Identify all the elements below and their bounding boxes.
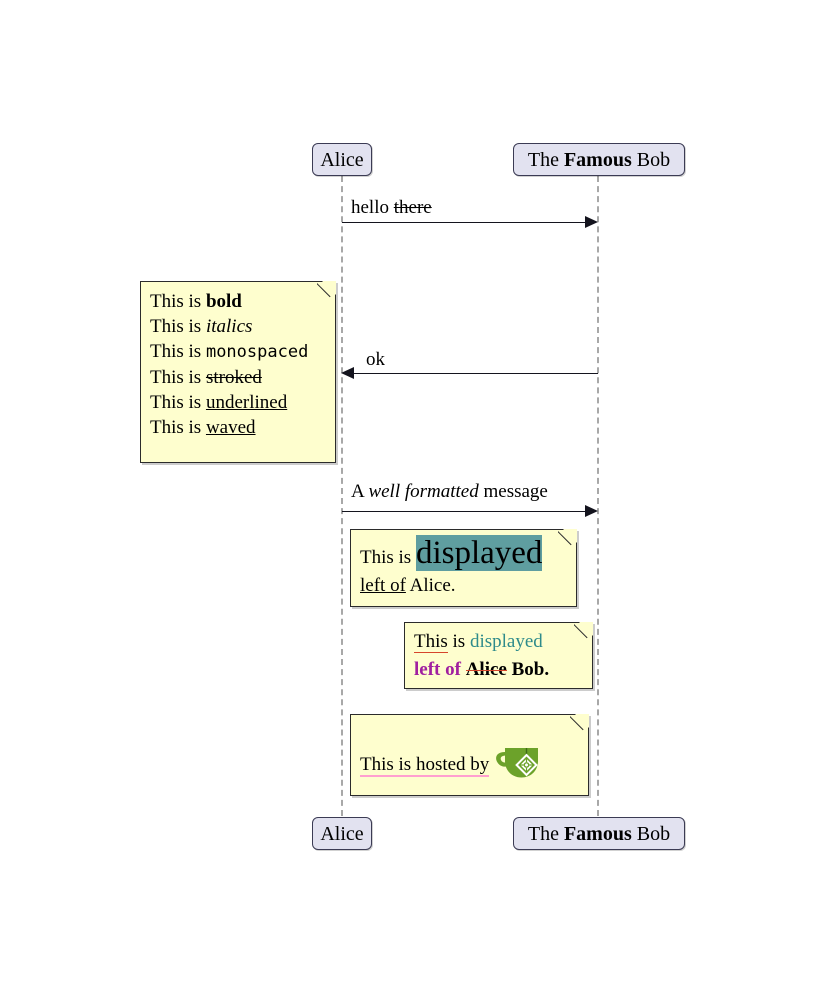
note-line: left of Alice. [360, 573, 567, 599]
bold-bob: Bob. [507, 659, 549, 680]
note-displayed-text: This is displayed left of Alice. [360, 537, 567, 599]
note-line: This is monospaced [150, 339, 326, 365]
note-line: This is stroked [150, 365, 326, 390]
note-colored-formatting: This is displayed left of Alice Bob. [404, 622, 593, 689]
purple-left-of: left of [414, 659, 461, 680]
note-formatting: This is bold This is italics This is mon… [140, 281, 336, 463]
note-line: This is underlined [150, 390, 326, 415]
bold-sample: bold [206, 291, 242, 312]
highlighted-displayed: displayed [416, 535, 542, 571]
message-label-formatted: A well formatted message [351, 482, 548, 503]
message-label-hello: hello there [351, 198, 432, 219]
note-line: This is displayed [360, 537, 567, 573]
monospace-sample: monospaced [206, 342, 308, 362]
note-line: This is italics [150, 314, 326, 339]
note-line: left of Alice Bob. [414, 656, 583, 684]
participant-bob-label-bottom: The Famous Bob [528, 824, 670, 844]
participant-alice-label-bottom: Alice [320, 824, 363, 844]
message-line-hello [342, 222, 590, 223]
arrowhead-hello [585, 216, 598, 228]
message-line-ok [352, 373, 598, 374]
note-line: This is waved [150, 415, 326, 440]
wave-sample: waved [206, 417, 256, 438]
message-label-ok: ok [366, 350, 385, 371]
italic-well-formatted: well formatted [368, 481, 478, 502]
underline-sample: underlined [206, 392, 287, 413]
strike-there: there [394, 197, 432, 218]
strike-sample: stroked [206, 367, 262, 388]
participant-alice-label: Alice [320, 150, 363, 170]
participant-bob-label: The Famous Bob [528, 150, 670, 170]
arrowhead-formatted [585, 505, 598, 517]
sequence-diagram: Alice The Famous Bob hello there This is… [0, 0, 826, 992]
note-hosted-text: This is hosted by [360, 741, 579, 788]
note-line: This is bold [150, 289, 326, 314]
participant-alice-top[interactable]: Alice [312, 143, 372, 176]
teal-displayed: displayed [470, 631, 543, 652]
participant-bob-bottom[interactable]: The Famous Bob [513, 817, 685, 850]
lifeline-bob [597, 176, 599, 816]
message-line-formatted [342, 511, 590, 512]
red-struck-alice: Alice [466, 659, 507, 680]
note-hosted-by: This is hosted by [350, 714, 589, 796]
participant-alice-bottom[interactable]: Alice [312, 817, 372, 850]
italic-sample: italics [206, 316, 252, 337]
note-line: This is displayed [414, 628, 583, 656]
red-underlined-this: This [414, 631, 448, 653]
note-formatting-text: This is bold This is italics This is mon… [150, 289, 326, 440]
pink-underlined-hosted-by: This is hosted by [360, 754, 489, 777]
note-displayed-highlight: This is displayed left of Alice. [350, 529, 577, 607]
arrowhead-ok [341, 367, 354, 379]
note-line: This is hosted by [360, 741, 579, 788]
teacup-icon [493, 741, 545, 788]
underlined-left-of: left of [360, 575, 406, 596]
lifeline-alice [341, 176, 343, 816]
participant-bob-top[interactable]: The Famous Bob [513, 143, 685, 176]
note-colored-text: This is displayed left of Alice Bob. [414, 628, 583, 684]
note-fold-edge [570, 714, 589, 733]
